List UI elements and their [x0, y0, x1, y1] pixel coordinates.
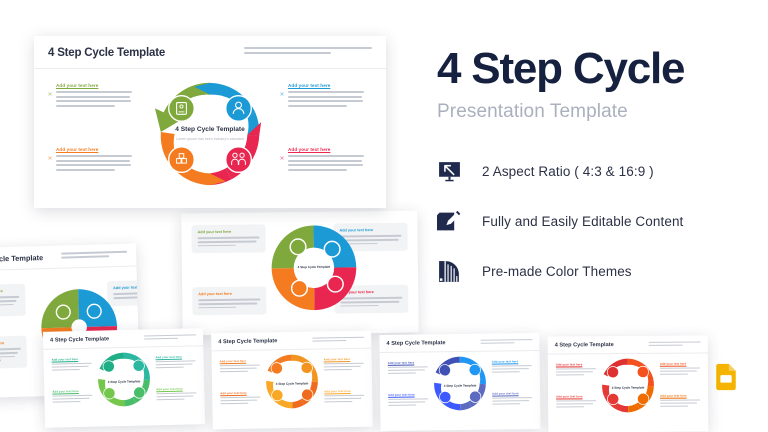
step-text: Add your text here	[556, 394, 596, 409]
step-label: Add your text here	[660, 361, 700, 365]
step-label: Add your text here	[56, 147, 132, 152]
center-title: 4 Step Cycle Template	[443, 384, 477, 388]
step-label: Add your text here	[388, 392, 428, 396]
step-label: Add your text here	[56, 83, 132, 88]
feature-list: 2 Aspect Ratio ( 4:3 & 16:9 ) Fully and …	[437, 159, 757, 284]
step-label: Add your text here	[220, 391, 260, 396]
cycle-center-text: 4 Step Cycle Template Lorem ipsum has be…	[175, 126, 245, 142]
step-label: Add your text here	[388, 360, 428, 364]
slide-header-text	[61, 251, 127, 259]
feature-row-color-themes: Pre-made Color Themes	[437, 259, 757, 284]
step-text: Add your text here	[155, 354, 195, 370]
slide-header: 4 Step Cycle Template	[379, 333, 539, 353]
text-box: Add your text here	[191, 224, 265, 253]
step-label: Add your text here	[52, 389, 92, 394]
donut-cycle-diagram: 4 Step Cycle Template	[267, 221, 360, 314]
step-label: Add your text here	[492, 359, 532, 363]
slide-variant-donut[interactable]: Add your text here Add your text here Ad…	[181, 211, 418, 336]
step-label: Add your text here	[660, 393, 700, 397]
slide-title: 4 Step Cycle Template	[48, 47, 165, 59]
bullet-marker	[48, 147, 52, 151]
slide-header-text	[144, 334, 196, 340]
step-text-bottom-left: Add your text here	[56, 147, 132, 173]
feature-label-editable: Fully and Easily Editable Content	[482, 214, 683, 229]
step-text: Add your text here	[492, 391, 532, 406]
center-title: 4 Step Cycle Template	[275, 382, 309, 386]
center-title: 4 Step Cycle Template	[175, 126, 245, 134]
step-label: Add your text here	[556, 394, 596, 398]
step-label: Add your text here	[288, 83, 364, 88]
step-text: Add your text here	[492, 359, 532, 374]
cycle-diagram: 4 Step Cycle Template Lorem ipsum has be…	[148, 75, 272, 193]
slide-title: 4 Step Cycle Template	[50, 336, 109, 343]
bullet-marker	[48, 83, 52, 87]
bullet-marker	[280, 147, 284, 151]
step-text: Add your text here	[556, 362, 596, 377]
feature-row-aspect-ratio: 2 Aspect Ratio ( 4:3 & 16:9 )	[437, 159, 757, 184]
mini-cycle-diagram: 4 Step Cycle Template	[429, 352, 492, 420]
hero-panel: 4 Step Cycle Presentation Template 2 Asp…	[437, 46, 757, 309]
slide-header-text	[312, 337, 364, 342]
center-text: 4 Step Cycle Template	[107, 380, 141, 384]
step-text-top-left: Add your text here	[56, 83, 132, 109]
step-text: Add your text here	[660, 361, 700, 376]
slide-title: 4 Step Cycle Template	[218, 338, 277, 345]
slide-title: 4 Step Cycle Template	[386, 340, 445, 347]
step-label: Add your text here	[198, 291, 260, 296]
bullet-marker	[280, 83, 284, 87]
page-subtitle: Presentation Template	[437, 101, 757, 123]
slide-header: 4 Step Cycle Template	[548, 335, 708, 354]
step-label: Add your text here	[0, 289, 19, 294]
color-swatch-fan-icon	[437, 259, 462, 284]
step-icon-badge-red	[226, 147, 252, 173]
center-title: 4 Step Cycle Template	[611, 386, 645, 390]
mini-cycle-diagram: 4 Step Cycle Template	[597, 354, 659, 421]
step-text: Add your text here	[52, 389, 92, 405]
feature-label-color-themes: Pre-made Color Themes	[482, 264, 632, 279]
center-title: 4 Step Cycle Template	[107, 380, 141, 384]
mini-cycle-diagram: 4 Step Cycle Template	[92, 348, 156, 416]
step-text: Add your text here	[660, 393, 700, 408]
step-label: Add your text here	[556, 362, 596, 366]
step-label: Add your text here	[492, 391, 532, 395]
step-text-top-right: Add your text here	[288, 83, 364, 109]
page-title: 4 Step Cycle	[437, 46, 757, 92]
step-label: Add your text here	[220, 359, 260, 364]
slide-header-text	[649, 341, 701, 346]
slide-title: 4 Step Cycle Template	[0, 253, 43, 264]
center-text: 4 Step Cycle Template	[275, 382, 309, 386]
slide-header-text	[244, 47, 372, 54]
step-label: Add your text here	[52, 357, 92, 362]
step-label: Add your text here	[288, 147, 364, 152]
center-subtitle: Lorem ipsum has been industry's standard	[175, 137, 245, 142]
google-slides-logo	[711, 362, 741, 392]
step-text: Add your text here	[388, 392, 428, 407]
slide-body: Add your text here Add your text here Ad…	[34, 69, 386, 197]
slide-thumbnail-red[interactable]: 4 Step Cycle Template Add your text here…	[548, 335, 709, 432]
slide-main[interactable]: 4 Step Cycle Template Add your text here…	[34, 36, 386, 208]
slide-header-text	[480, 339, 532, 344]
slide-thumbnail-blue[interactable]: 4 Step Cycle Template Add your text here…	[379, 333, 540, 431]
step-text: Add your text here	[324, 389, 364, 405]
feature-label-aspect-ratio: 2 Aspect Ratio ( 4:3 & 16:9 )	[482, 164, 654, 179]
text-box: Add your text here	[0, 336, 27, 370]
slide-header: 4 Step Cycle Template	[34, 36, 386, 69]
step-label: Add your text here	[0, 341, 21, 346]
step-text: Add your text here	[324, 357, 364, 373]
monitor-aspect-ratio-icon	[437, 159, 462, 184]
step-text: Add your text here	[220, 359, 260, 375]
slide-thumbnail-teal[interactable]: 4 Step Cycle Template Add your text here…	[43, 328, 205, 428]
step-label: Add your text here	[155, 354, 195, 359]
slide-thumbnail-orange[interactable]: 4 Step Cycle Template Add your text here…	[211, 331, 373, 430]
center-text: 4 Step Cycle Template	[443, 384, 477, 388]
step-text: Add your text here	[52, 357, 92, 373]
text-box: Add your text here	[0, 284, 26, 318]
mini-cycle-diagram: 4 Step Cycle Template	[260, 350, 323, 418]
step-label: Add your text here	[324, 389, 364, 394]
slide-title: 4 Step Cycle Template	[555, 342, 614, 348]
pencil-edit-icon	[437, 209, 462, 234]
donut-center-text: 4 Step Cycle Template	[297, 266, 331, 270]
step-label: Add your text here	[324, 357, 364, 362]
step-label: Add your text here	[156, 386, 196, 391]
center-title: 4 Step Cycle Template	[297, 266, 331, 270]
feature-row-editable: Fully and Easily Editable Content	[437, 209, 757, 234]
step-text-bottom-right: Add your text here	[288, 147, 364, 173]
text-box: Add your text here	[192, 286, 266, 315]
step-text: Add your text here	[388, 360, 428, 375]
center-text: 4 Step Cycle Template	[611, 386, 645, 390]
step-text: Add your text here	[220, 391, 260, 407]
step-label: Add your text here	[197, 229, 259, 234]
step-text: Add your text here	[156, 386, 196, 402]
